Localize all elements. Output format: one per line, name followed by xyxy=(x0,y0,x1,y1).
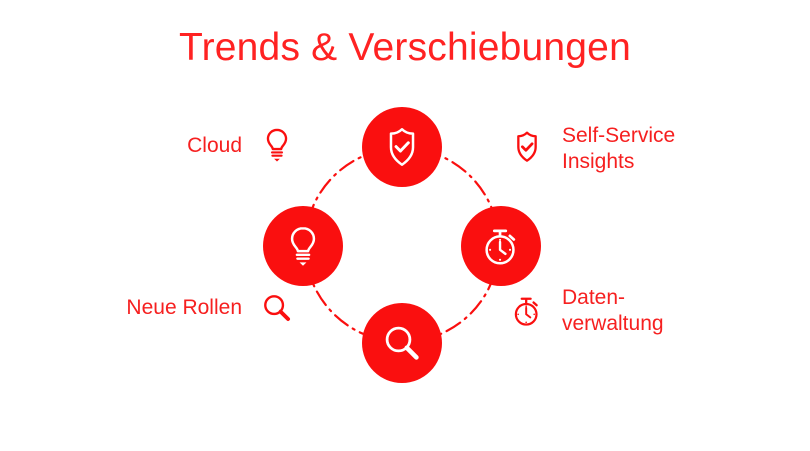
satellite-label-cloud: Cloud xyxy=(187,133,242,159)
lightbulb-icon xyxy=(281,223,325,269)
shield-check-icon xyxy=(379,124,425,170)
satellite-label-daten-verwaltung: Daten- verwaltung xyxy=(562,285,664,336)
magnifying-glass-outline-icon xyxy=(256,285,298,331)
hub-top-self-service-insights[interactable] xyxy=(362,107,442,187)
stopwatch-icon xyxy=(478,223,524,269)
magnifying-glass-icon xyxy=(380,321,424,365)
satellite-self-service-insights[interactable]: Self-Service Insights xyxy=(506,123,716,174)
shield-check-outline-icon xyxy=(506,126,548,172)
cycle-diagram: Cloud Self-Service Insights xyxy=(0,0,810,451)
satellite-cloud[interactable]: Cloud xyxy=(150,123,298,169)
lightbulb-outline-icon xyxy=(256,123,298,169)
satellite-label-self-service-insights: Self-Service Insights xyxy=(562,123,675,174)
satellite-neue-rollen[interactable]: Neue Rollen xyxy=(86,285,298,331)
satellite-daten-verwaltung[interactable]: Daten- verwaltung xyxy=(506,285,716,336)
hub-bottom-neue-rollen[interactable] xyxy=(362,303,442,383)
slide-canvas: Trends & Verschiebungen xyxy=(0,0,810,451)
stopwatch-outline-icon xyxy=(506,288,548,334)
hub-left-cloud[interactable] xyxy=(263,206,343,286)
satellite-label-neue-rollen: Neue Rollen xyxy=(126,295,242,321)
hub-right-daten-verwaltung[interactable] xyxy=(461,206,541,286)
